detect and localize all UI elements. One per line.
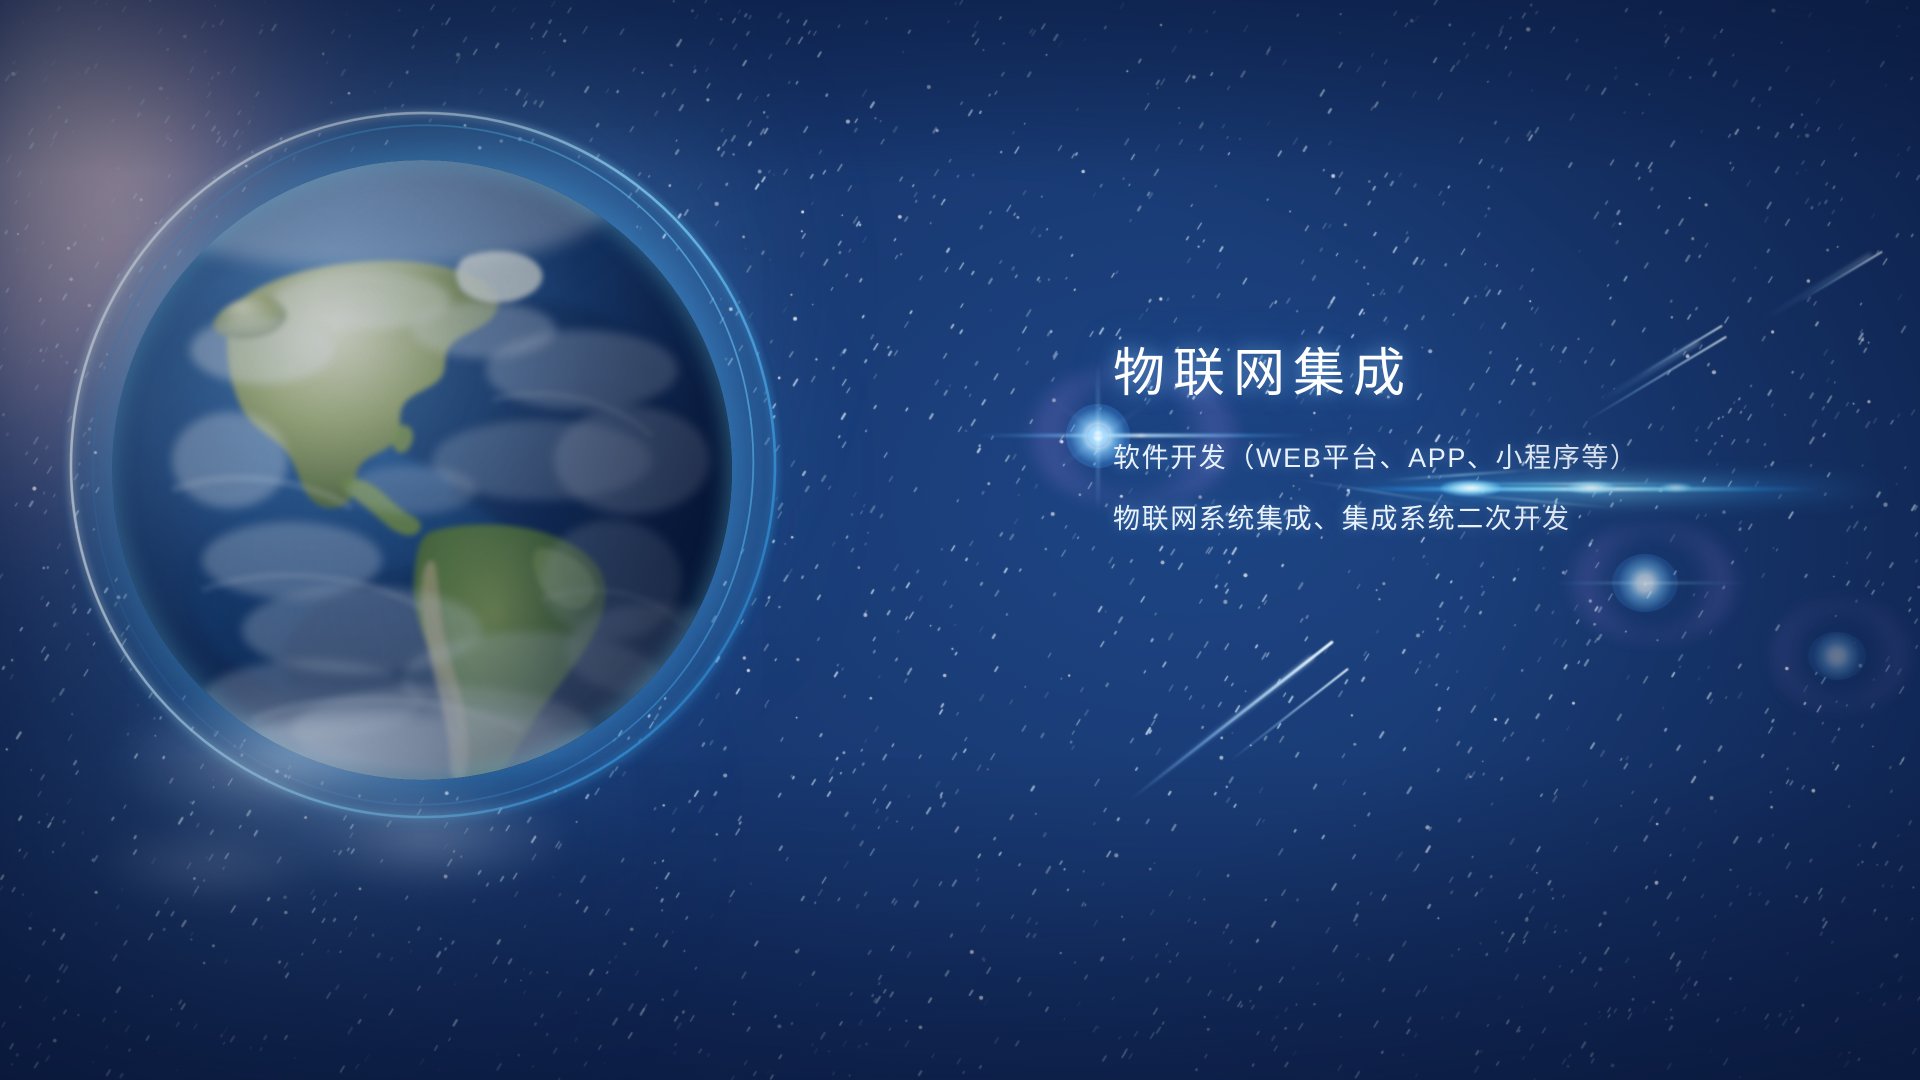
banner-stage: 物联网集成 软件开发（WEB平台、APP、小程序等） 物联网系统集成、集成系统二…: [0, 0, 1920, 1080]
background-vignette: [0, 0, 1920, 1080]
